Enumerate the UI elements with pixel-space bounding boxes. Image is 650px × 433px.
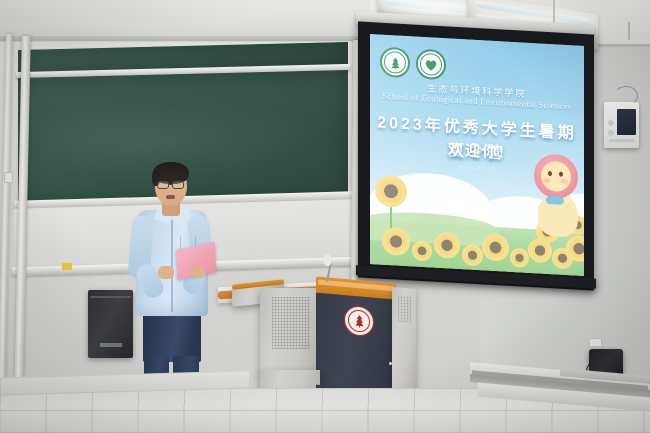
presenter-mouth (166, 195, 175, 199)
classroom-photo: 生态与环境科学学院 School of Ecological and Envir… (0, 0, 650, 433)
lectern-speaker-grille (272, 297, 310, 349)
presenter-glasses-bridge (169, 184, 172, 185)
control-panel-cable (614, 86, 638, 106)
presenter-hand-left (158, 266, 174, 279)
microphone-head[interactable] (323, 254, 332, 266)
presenter-glasses-right-lens (172, 181, 184, 189)
ceiling-rod-right (628, 22, 630, 40)
control-panel-knob-2[interactable] (608, 130, 614, 136)
power-socket-right[interactable] (589, 338, 602, 347)
presenter-glasses-left-lens (157, 181, 169, 189)
projector-screen-surface: 生态与环境科学学院 School of Ecological and Envir… (370, 34, 584, 276)
control-panel-knob-1[interactable] (608, 120, 614, 126)
lectern-door-latch[interactable] (389, 362, 392, 365)
screen-light-wash (370, 34, 584, 276)
lectern-right-vent (398, 295, 411, 322)
control-panel-display (617, 109, 636, 135)
control-panel-label (609, 139, 634, 142)
presenter-pants (143, 308, 201, 362)
chalk-tray-yellow-marker (62, 263, 72, 270)
wall-control-panel[interactable] (604, 102, 639, 148)
power-socket-left[interactable] (4, 172, 13, 183)
presenter-hand-right (190, 266, 205, 278)
